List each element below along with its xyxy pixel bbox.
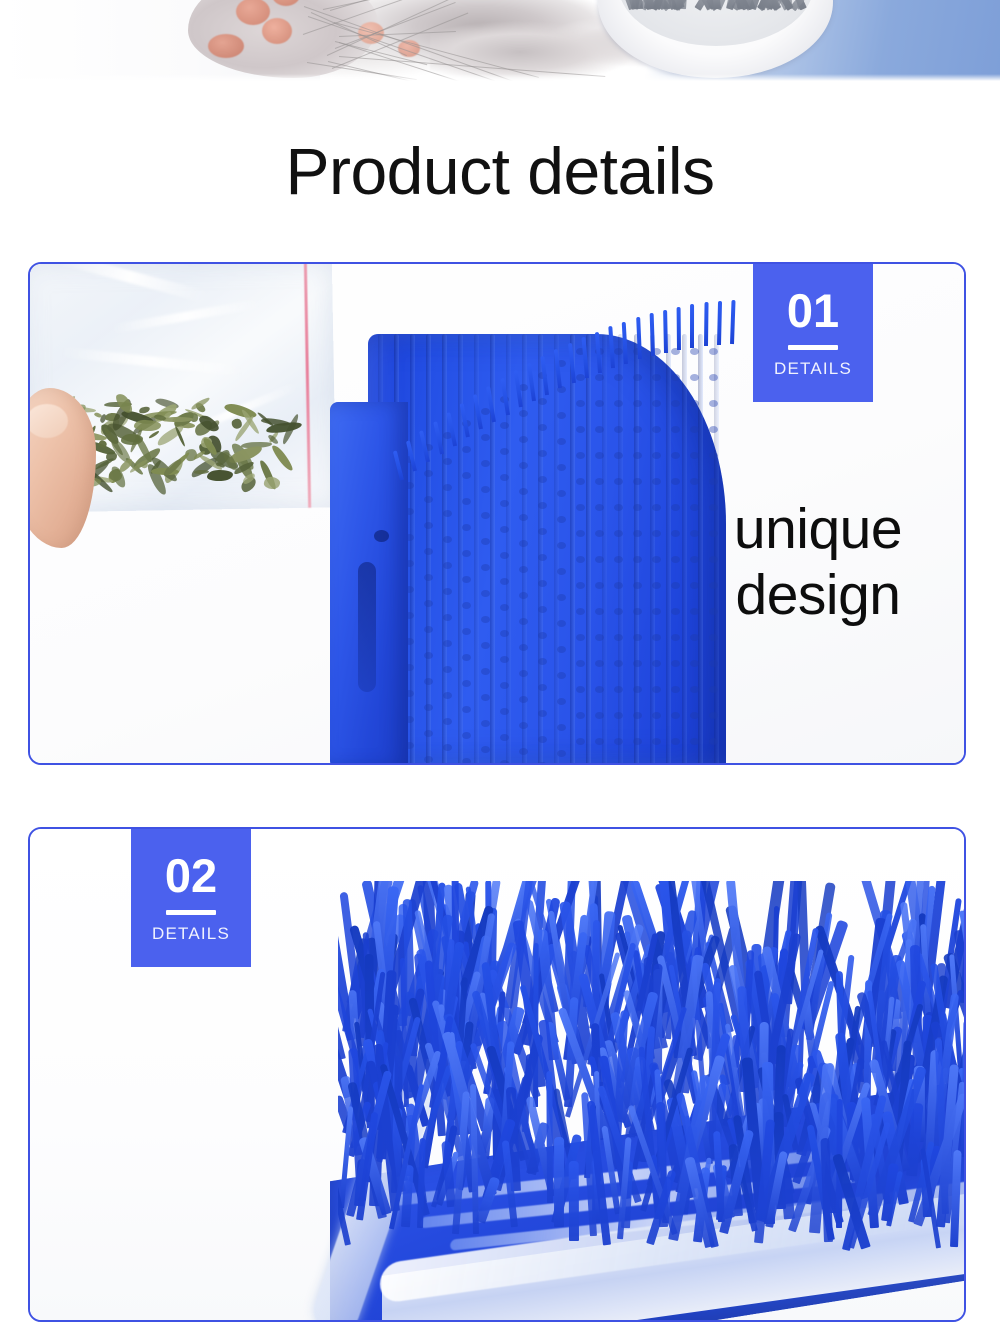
brush-nub [519,644,528,651]
brush-nub [443,510,452,517]
badge-divider [788,345,838,350]
brush-nub [633,634,642,641]
handle-screw-hole [374,530,389,542]
brush-nub [709,660,718,667]
comb-tooth [473,394,483,429]
brush-nub [519,748,528,755]
brush-nub [500,500,509,507]
brush-nub [671,660,680,667]
brush-nub [576,530,585,537]
brush-nub [595,660,604,667]
brush-nub [500,760,509,765]
brush-nub [481,590,490,597]
brush-nub [557,594,566,601]
brush-nub [652,738,661,745]
page-title: Product details [0,133,1000,209]
brush-nub [424,522,433,529]
catnip-leaf [93,412,102,419]
brush-nub [462,706,471,713]
brush-nub [481,694,490,701]
silicone-bristle [965,1166,966,1225]
brush-nub [519,722,528,729]
caption-line: unique [670,496,966,562]
brush-nub [519,670,528,677]
brush-nub [709,686,718,693]
brush-nub [614,634,623,641]
brush-nub [576,582,585,589]
cat-paw-banner [0,0,1000,81]
brush-nub [614,582,623,589]
brush-nub [462,732,471,739]
brush-nub [633,660,642,667]
brush-nub [652,504,661,511]
brush-nub [424,548,433,555]
brush-nub [443,666,452,673]
brush-nub [462,550,471,557]
brush-nub [538,580,547,587]
brush-nub [443,562,452,569]
comb-tooth [704,302,709,346]
brush-nub [443,744,452,751]
brush-nub [614,712,623,719]
badge-number: 02 [165,852,217,899]
brush-nub [443,614,452,621]
brush-nub [500,552,509,559]
brush-nub [424,574,433,581]
comb-tooth [730,300,736,344]
brush-nub [519,592,528,599]
brush-nub [519,514,528,521]
brush-nub [614,660,623,667]
brush-nub [481,616,490,623]
brush-nub [500,526,509,533]
brush-nub [557,672,566,679]
brush-nub [443,692,452,699]
brush-nub [595,582,604,589]
comb-tooth [581,337,589,378]
cat-whiskers [300,0,630,81]
silicone-bristle [964,1118,966,1203]
brush-nub [500,734,509,741]
detail-card-02: 02 DETAILS Fine comb teeth [28,827,966,1322]
silicone-bristle [547,1071,554,1203]
brush-comb-teeth [330,294,750,494]
brush-nub [576,634,585,641]
brush-nub [595,634,604,641]
caption-line: design [670,562,966,628]
comb-tooth [649,313,654,356]
brush-nub [652,556,661,563]
catnip-leaf [270,443,295,473]
brush-nub [462,680,471,687]
brush-nub [709,738,718,745]
brush-nub [500,604,509,611]
brush-nub [557,750,566,757]
brush-nub [633,712,642,719]
brush-nub [481,538,490,545]
comb-tooth [406,440,417,471]
brush-nub [424,756,433,763]
brush-nub [652,530,661,537]
comb-tooth [527,363,536,401]
brush-nub [576,738,585,745]
brush-bristle-disc [618,0,814,46]
brush-nub [690,686,699,693]
brush-nub [595,608,604,615]
paw-bean [208,34,244,58]
brush-nub [424,626,433,633]
comb-tooth [419,431,430,463]
brush-nub [595,712,604,719]
brush-nub [614,530,623,537]
brush-nub [576,660,585,667]
brush-nub [690,738,699,745]
badge-label: DETAILS [152,924,230,944]
brush-nub [538,684,547,691]
catnip-leaf [133,419,160,431]
bag-zip-seal [304,264,311,508]
brush-nub [633,582,642,589]
brush-nub [614,556,623,563]
brush-nub [500,708,509,715]
brush-nub [424,678,433,685]
brush-nub [652,660,661,667]
comb-tooth [608,326,615,368]
brush-nub [481,746,490,753]
badge-01: 01 DETAILS [753,264,873,402]
brush-nub [614,504,623,511]
brush-nub [690,660,699,667]
brush-nub [690,634,699,641]
brush-nub [671,738,680,745]
brush-nub [538,658,547,665]
brush-nub [538,528,547,535]
brush-nub [424,600,433,607]
brush-nub [481,668,490,675]
brush-nub [557,568,566,575]
brush-nub [424,652,433,659]
comb-tooth [500,378,510,415]
comb-tooth [622,322,628,364]
brush-nub [443,718,452,725]
brush-nub [538,736,547,743]
brush-nub [481,512,490,519]
brush-nub [519,566,528,573]
brush-nub [614,608,623,615]
comb-tooth [717,301,722,345]
brush-nub [462,602,471,609]
blue-bristles [338,881,966,1281]
brush-nub [557,646,566,653]
brush-nub [633,686,642,693]
detail-card-01: 01 DETAILS unique design [28,262,966,765]
brush-nub [576,556,585,563]
brush-nub [538,502,547,509]
catnip-leaf [263,476,280,489]
catnip-leaf [207,469,233,481]
brush-nub [576,712,585,719]
brush-nub [557,620,566,627]
brush-nub [671,712,680,719]
brush-nub [614,686,623,693]
brush-nub [481,720,490,727]
brush-nub [576,608,585,615]
paw-bean [262,18,292,44]
brush-nub [652,712,661,719]
brush-nub [633,556,642,563]
silicone-bristle [554,1137,564,1227]
comb-tooth [636,317,642,360]
brush-nub [595,686,604,693]
badge-divider [166,910,216,915]
brush-nub [633,608,642,615]
brush-nub [595,504,604,511]
comb-tooth [677,307,681,350]
brush-nub [595,738,604,745]
brush-nub [538,606,547,613]
brush-nub [652,608,661,615]
brush-nub [538,762,547,765]
brush-nub [481,642,490,649]
brush-nub [614,738,623,745]
badge-number: 01 [787,287,839,334]
comb-tooth [393,450,404,480]
brush-nub [595,530,604,537]
silicone-bristle [965,988,966,1099]
comb-tooth [541,356,550,395]
handle-slot [358,562,376,692]
comb-tooth [554,349,562,389]
brush-nub [557,724,566,731]
catnip-leaf [121,434,143,445]
brush-nub [424,730,433,737]
brush-nub [519,618,528,625]
brush-nub [424,704,433,711]
brush-nub [557,516,566,523]
brush-nub [443,588,452,595]
brush-nub [671,686,680,693]
brush-nub [500,656,509,663]
comb-tooth [460,403,470,438]
brush-nub [633,530,642,537]
comb-tooth [433,421,444,454]
brush-nub [462,628,471,635]
brush-nub [633,504,642,511]
brush-nub [538,632,547,639]
comb-tooth [663,310,668,353]
brush-nub [671,634,680,641]
grey-bristles [618,0,814,46]
brush-nub [652,634,661,641]
brush-nub [519,696,528,703]
brush-nub [538,710,547,717]
brush-nub [709,712,718,719]
brush-nub [633,738,642,745]
brush-nub [462,654,471,661]
brush-nub [481,564,490,571]
brush-nub [500,682,509,689]
product-details-page: Product details [0,0,1000,1333]
brush-nub [462,524,471,531]
brush-nub [500,578,509,585]
comb-tooth [568,343,576,383]
brush-nub [576,504,585,511]
badge-label: DETAILS [774,359,852,379]
card-01-caption: unique design [670,496,966,628]
brush-nub [538,554,547,561]
comb-tooth [513,370,522,408]
comb-tooth [446,412,457,446]
badge-02: 02 DETAILS [131,829,251,967]
brush-nub [443,640,452,647]
brush-nub [709,634,718,641]
brush-nub [557,698,566,705]
brush-nub [595,556,604,563]
brush-nub [500,630,509,637]
brush-nub [652,686,661,693]
brush-nub [576,686,585,693]
comb-tooth [690,304,694,348]
brush-nub [462,576,471,583]
brush-nub [424,496,433,503]
brush-nub [652,582,661,589]
brush-nub [462,498,471,505]
brush-nub [443,536,452,543]
silicone-bristle [475,1176,500,1224]
silicone-bristle [569,1161,579,1241]
comb-tooth [595,332,602,373]
brush-nub [519,540,528,547]
brush-nub [690,712,699,719]
comb-tooth [486,386,496,422]
banner-fade [0,74,1000,81]
brush-nub [557,542,566,549]
brush-nub [462,758,471,765]
